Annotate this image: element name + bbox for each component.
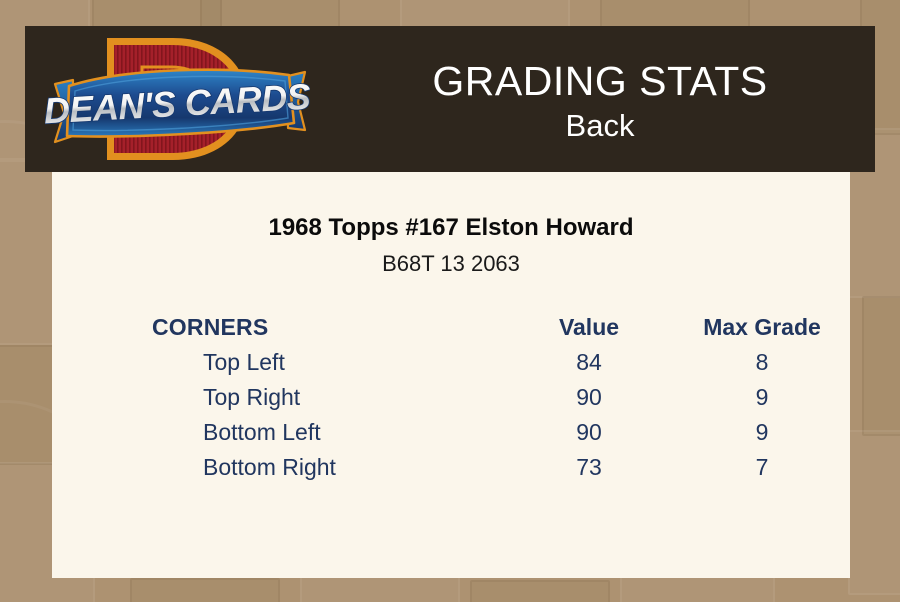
header-title-group: GRADING STATS Back <box>325 26 875 172</box>
page-subtitle: Back <box>566 106 635 146</box>
grading-stats-table: CORNERS Value Max Grade Top Left 84 8 To… <box>52 310 850 485</box>
row-max-grade: 9 <box>674 415 850 450</box>
header-bar: DEAN'S CARDS GRADING STATS Back <box>25 26 875 172</box>
card-id-subtitle: B68T 13 2063 <box>52 250 850 278</box>
table-row: Bottom Left 90 9 <box>52 415 850 450</box>
row-value: 84 <box>504 345 674 380</box>
deans-cards-logo[interactable]: DEAN'S CARDS <box>45 28 310 170</box>
table-row: Top Left 84 8 <box>52 345 850 380</box>
card-title: 1968 Topps #167 Elston Howard <box>52 213 850 243</box>
column-header-max-grade: Max Grade <box>674 310 850 345</box>
row-label: Top Left <box>52 345 504 380</box>
stats-table-body: Top Left 84 8 Top Right 90 9 Bottom Left… <box>52 345 850 485</box>
column-header-value: Value <box>504 310 674 345</box>
row-max-grade: 8 <box>674 345 850 380</box>
table-row: Bottom Right 73 7 <box>52 450 850 485</box>
section-label-corners: CORNERS <box>52 310 504 345</box>
row-max-grade: 9 <box>674 380 850 415</box>
content-panel: 1968 Topps #167 Elston Howard B68T 13 20… <box>52 172 850 578</box>
page-title: GRADING STATS <box>432 56 767 106</box>
row-value: 90 <box>504 415 674 450</box>
row-value: 90 <box>504 380 674 415</box>
row-value: 73 <box>504 450 674 485</box>
table-row: Top Right 90 9 <box>52 380 850 415</box>
row-label: Bottom Right <box>52 450 504 485</box>
row-label: Top Right <box>52 380 504 415</box>
row-max-grade: 7 <box>674 450 850 485</box>
row-label: Bottom Left <box>52 415 504 450</box>
table-header-row: CORNERS Value Max Grade <box>52 310 850 345</box>
